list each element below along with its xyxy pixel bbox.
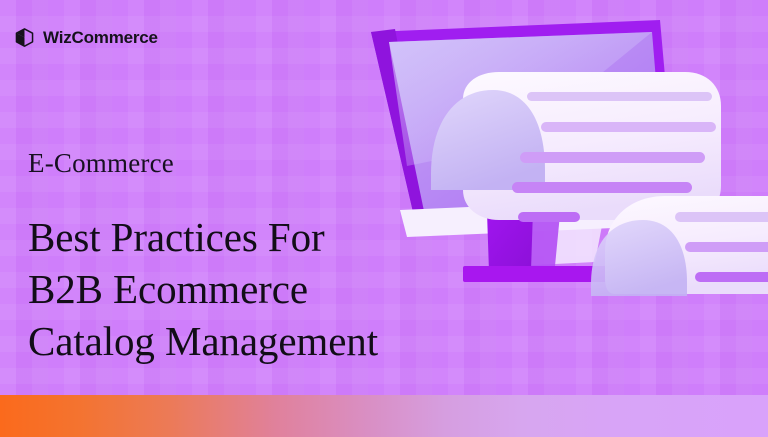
- brand-logo[interactable]: WizCommerce: [14, 27, 158, 48]
- title-line-1: Best Practices For: [28, 211, 378, 263]
- category-label: E-Commerce: [28, 150, 378, 177]
- brand-name: WizCommerce: [43, 29, 158, 46]
- article-hero-banner: WizCommerce E-Commerce Best Practices Fo…: [0, 0, 768, 437]
- title-line-2: B2B Ecommerce: [28, 263, 378, 315]
- monitor-documents-illustration: [355, 0, 768, 304]
- page-title: Best Practices For B2B Ecommerce Catalog…: [28, 211, 378, 367]
- bottom-gradient-bar: [0, 395, 768, 437]
- cube-icon: [14, 27, 35, 48]
- title-line-3: Catalog Management: [28, 315, 378, 367]
- hero-text-block: E-Commerce Best Practices For B2B Ecomme…: [28, 150, 378, 367]
